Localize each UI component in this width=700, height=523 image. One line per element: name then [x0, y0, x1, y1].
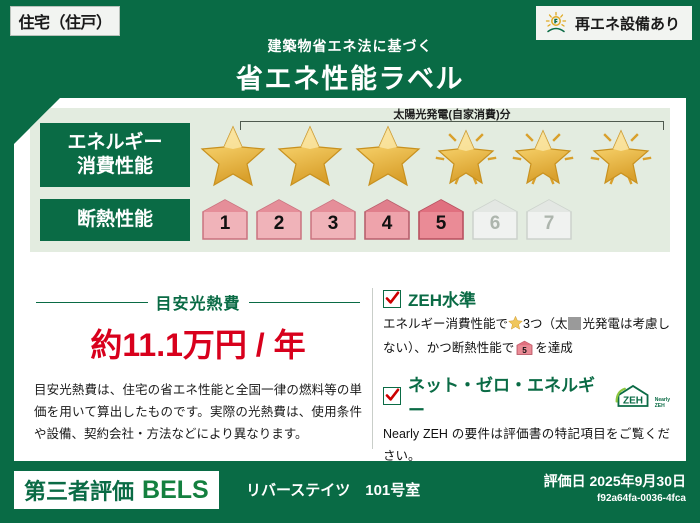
insulation-level-2: 2 — [254, 198, 304, 242]
energy-consumption-row: エネルギー 消費性能 — [40, 116, 660, 194]
label-heading: 建築物省エネ法に基づく 省エネ性能ラベル — [0, 36, 700, 96]
evaluation-id: f92a64fa-0036-4fca — [544, 493, 686, 504]
svg-text:ZEH: ZEH — [623, 395, 643, 406]
checkbox-checked-icon — [383, 290, 401, 308]
energy-consumption-label: エネルギー 消費性能 — [40, 123, 190, 187]
third-party-eval-label: 第三者評価 — [24, 474, 134, 506]
insulation-level-6: 6 — [470, 198, 520, 242]
zeh-logo-sub: Nearly ZEH — [655, 398, 670, 409]
zeh-standard-body: エネルギー消費性能で3つ（太光発電は考慮しない）、かつ断熱性能で5を達成 — [383, 314, 670, 363]
insulation-level-5-achieved: 5 — [416, 198, 466, 242]
evaluation-date: 評価日 2025年9月30日 — [544, 471, 686, 491]
solar-bracket-label: 太陽光発電(自家消費)分 — [240, 106, 664, 122]
bels-logo-text: BELS — [142, 476, 209, 505]
heading-rule-left — [36, 302, 148, 303]
checkbox-checked-icon — [383, 387, 401, 405]
zeh-standard-item: ZEH水準 エネルギー消費性能で3つ（太光発電は考慮しない）、かつ断熱性能で5を… — [383, 286, 670, 363]
zeh-standard-title: ZEH水準 — [408, 286, 476, 311]
heading-rule-right — [249, 302, 361, 303]
zeh-column: ZEH水準 エネルギー消費性能で3つ（太光発電は考慮しない）、かつ断熱性能で5を… — [383, 284, 670, 453]
redaction-block — [568, 317, 581, 330]
utility-cost-column: 目安光熱費 約11.1万円 / 年 目安光熱費は、住宅の省エネ性能と全国一律の燃… — [30, 284, 366, 453]
column-divider — [372, 288, 373, 449]
sun-solar-icon — [544, 11, 568, 35]
insulation-level-7: 7 — [524, 198, 574, 242]
insulation-scale: 1 2 3 4 5 — [190, 198, 660, 242]
bels-certification-box: 第三者評価 BELS — [14, 471, 219, 509]
zeh-logo-icon: ZEH Nearly ZEH — [613, 383, 670, 409]
evaluation-info: 評価日 2025年9月30日 f92a64fa-0036-4fca — [544, 471, 686, 504]
heading-title: 省エネ性能ラベル — [0, 57, 700, 96]
building-name: リバーステイツ 101号室 — [246, 479, 420, 500]
net-zero-title: ネット・ゼロ・エネルギー — [408, 371, 602, 421]
insulation-level-1: 1 — [200, 198, 250, 242]
insulation-level-4: 4 — [362, 198, 412, 242]
housing-type-tag: 住宅（住戸） — [10, 6, 120, 36]
utility-cost-note: 目安光熱費は、住宅の省エネ性能と全国一律の燃料等の単価を用いて算出したものです。… — [34, 380, 362, 446]
energy-star-rating: 太陽光発電(自家消費)分 — [190, 116, 660, 194]
net-zero-energy-item: ネット・ゼロ・エネルギー ZEH Nearly ZEH — [383, 371, 670, 467]
insulation-label: 断熱性能 — [40, 199, 190, 241]
utility-cost-heading: 目安光熱費 — [36, 290, 360, 314]
main-panel: エネルギー 消費性能 — [14, 98, 686, 461]
renewable-badge-label: 再エネ設備あり — [575, 13, 680, 34]
insulation-row: 断熱性能 1 2 3 4 — [40, 198, 660, 242]
performance-block: エネルギー 消費性能 — [30, 108, 670, 252]
solar-bracket: 太陽光発電(自家消費)分 — [240, 106, 664, 132]
utility-cost-value: 約11.1万円 / 年 — [30, 320, 366, 366]
zeh-standard-title-row: ZEH水準 — [383, 286, 670, 311]
svg-text:5: 5 — [522, 345, 527, 354]
renewable-equipment-badge: 再エネ設備あり — [536, 6, 692, 40]
insulation-level-3: 3 — [308, 198, 358, 242]
mini-star-icon — [508, 315, 523, 338]
net-zero-title-row: ネット・ゼロ・エネルギー ZEH Nearly ZEH — [383, 371, 670, 421]
label-root: 住宅（住戸） 再エネ設備あり 建築物省エネ法に基づく 省エネ性 — [0, 0, 700, 523]
solar-bracket-line — [240, 121, 664, 130]
mini-house-badge-5: 5 — [516, 340, 533, 364]
footer-bar: 第三者評価 BELS リバーステイツ 101号室 評価日 2025年9月30日 … — [0, 461, 700, 523]
detail-columns: 目安光熱費 約11.1万円 / 年 目安光熱費は、住宅の省エネ性能と全国一律の燃… — [30, 284, 670, 453]
utility-cost-heading-text: 目安光熱費 — [156, 290, 241, 314]
